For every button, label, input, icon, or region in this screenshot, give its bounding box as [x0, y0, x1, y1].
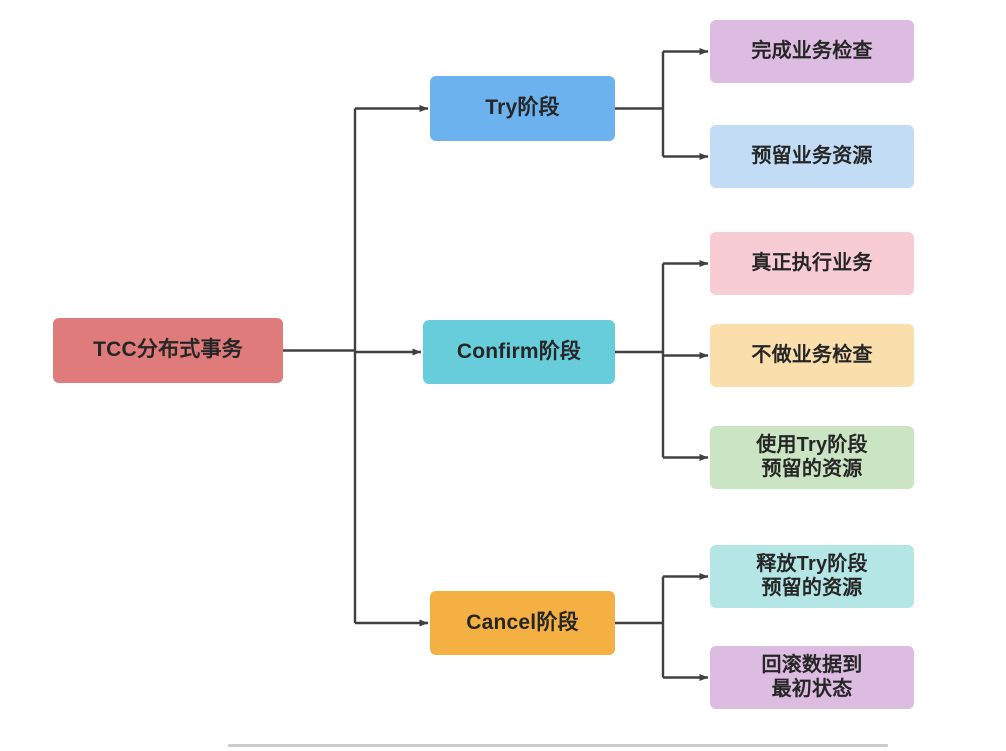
node-root[interactable]: TCC分布式事务: [53, 318, 283, 383]
node-stage-try[interactable]: Try阶段: [430, 76, 615, 141]
node-leaf-try-2[interactable]: 预留业务资源: [710, 125, 914, 188]
bottom-divider: [228, 744, 888, 747]
node-stage-cancel[interactable]: Cancel阶段: [430, 591, 615, 655]
node-leaf-confirm-3[interactable]: 使用Try阶段 预留的资源: [710, 426, 914, 489]
node-leaf-try-1[interactable]: 完成业务检查: [710, 20, 914, 83]
diagram-canvas: TCC分布式事务 Try阶段 完成业务检查 预留业务资源 Confirm阶段 真…: [0, 0, 1006, 751]
node-leaf-confirm-1[interactable]: 真正执行业务: [710, 232, 914, 295]
node-leaf-confirm-2[interactable]: 不做业务检查: [710, 324, 914, 387]
node-leaf-cancel-1[interactable]: 释放Try阶段 预留的资源: [710, 545, 914, 608]
node-stage-confirm[interactable]: Confirm阶段: [423, 320, 615, 384]
node-leaf-cancel-2[interactable]: 回滚数据到 最初状态: [710, 646, 914, 709]
